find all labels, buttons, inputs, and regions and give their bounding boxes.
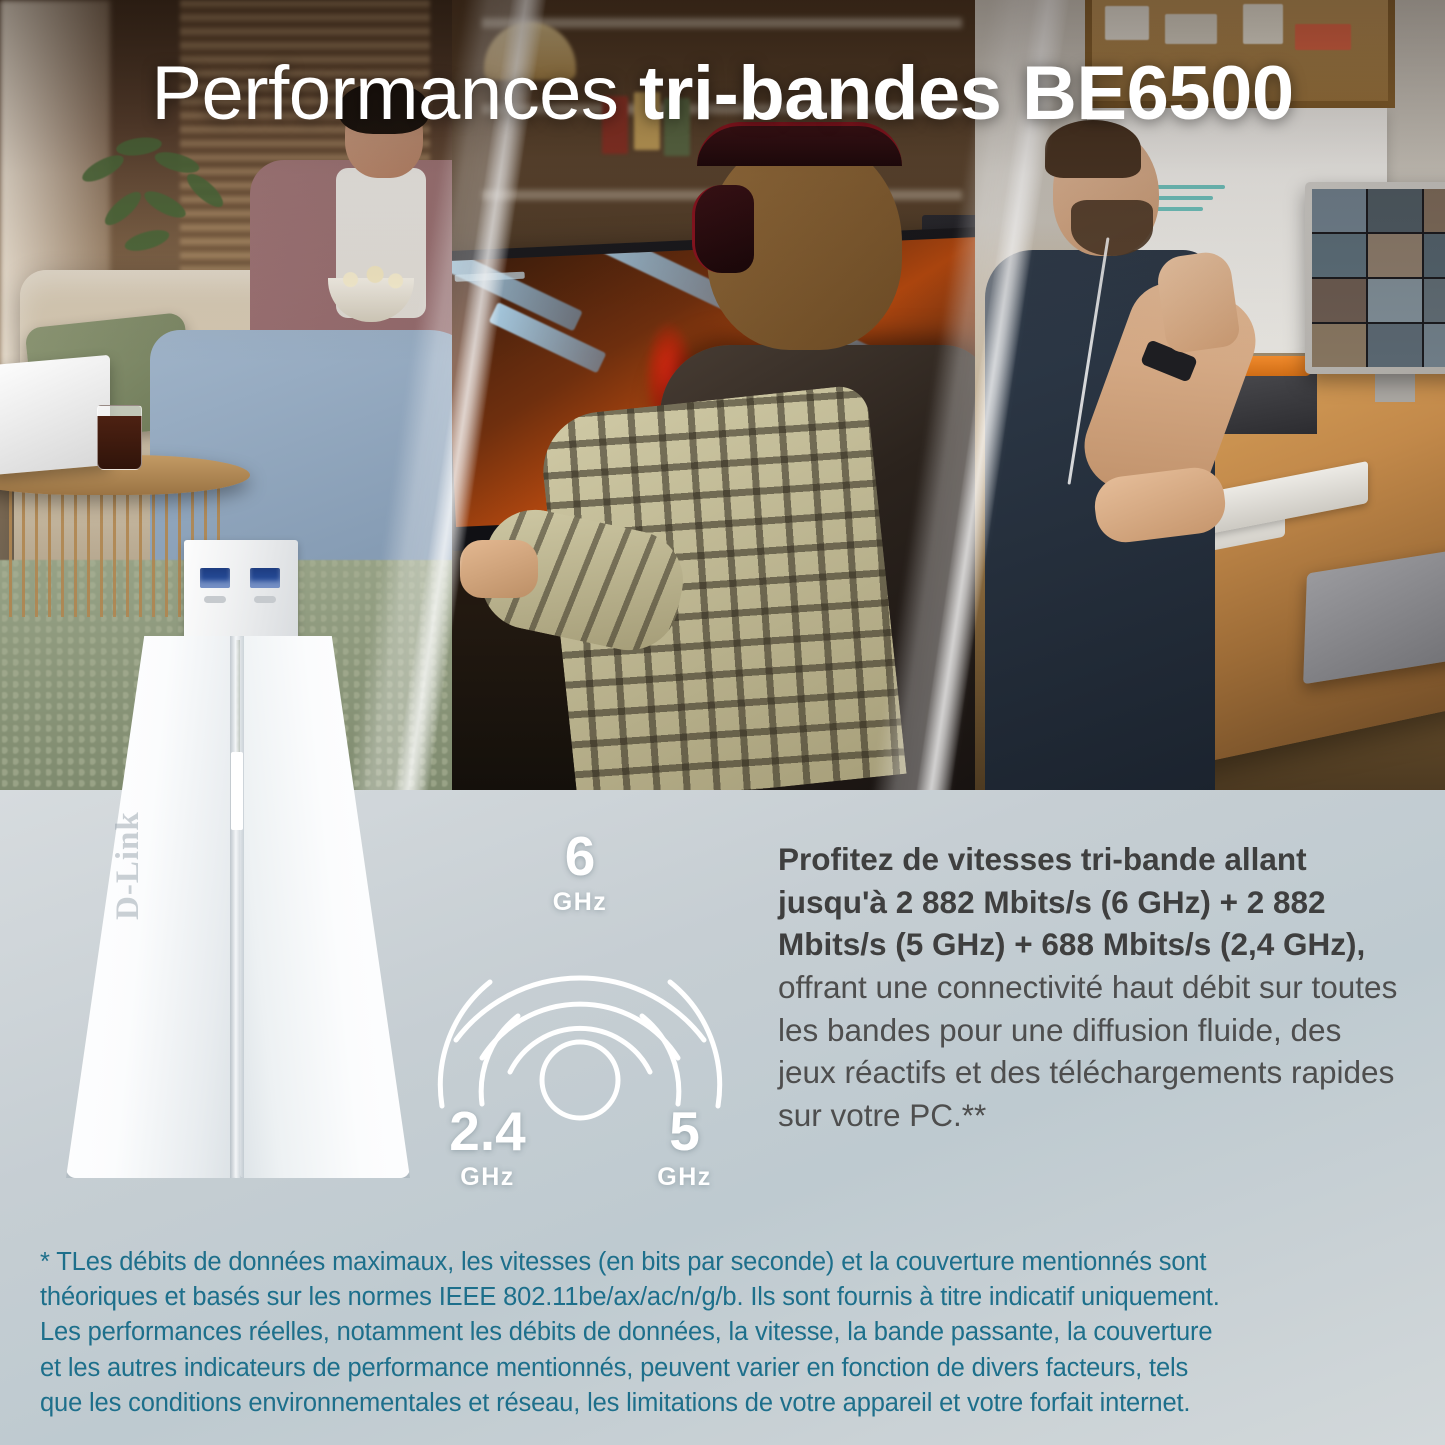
- usb-notch: [254, 596, 276, 603]
- band-label-2.4ghz: 2.4 GHz: [415, 1105, 560, 1192]
- page-title: Performances tri-bandes BE6500: [0, 56, 1445, 132]
- usb-notch: [204, 596, 226, 603]
- footnote-line: Les performances réelles, notamment les …: [40, 1315, 1410, 1350]
- band-number: 2.4: [415, 1105, 560, 1159]
- laptop: [0, 355, 110, 475]
- worker-beard: [1071, 200, 1153, 256]
- product-image-usb-adapter: D-Link: [60, 540, 420, 1180]
- title-light-part: Performances: [151, 51, 639, 136]
- usb-contact-slot: [200, 568, 230, 588]
- footnote-line: et les autres indicateurs de performance…: [40, 1351, 1410, 1386]
- usb-connector: [184, 540, 298, 640]
- wifi-arc-inner: [510, 1028, 650, 1072]
- marketing-banner: 92: [0, 0, 1445, 1445]
- band-unit: GHz: [632, 1163, 737, 1192]
- band-number: 5: [632, 1105, 737, 1159]
- coffee-glass: [97, 405, 142, 470]
- title-bold-part: tri-bandes BE6500: [639, 51, 1294, 136]
- wifi-arc-side-left-inner: [481, 1016, 518, 1104]
- usb-contact-slot: [250, 568, 280, 588]
- footnote-line: théoriques et basés sur les normes IEEE …: [40, 1280, 1410, 1315]
- wifi-arc-middle: [482, 1004, 678, 1058]
- band-unit: GHz: [415, 1163, 560, 1192]
- band-label-5ghz: 5 GHz: [632, 1105, 737, 1192]
- video-call-grid: [1312, 189, 1445, 367]
- popcorn: [330, 264, 412, 290]
- footnote-line: que les conditions environnementales et …: [40, 1386, 1410, 1421]
- desktop-monitor: [1305, 182, 1445, 374]
- gamer-hand: [460, 540, 538, 598]
- headphones-earcup: [692, 185, 754, 273]
- worker-waving-hand: [1155, 249, 1242, 354]
- antenna-wing-right: [240, 636, 410, 1178]
- marketing-description: Profitez de vitesses tri-bande allant ju…: [778, 838, 1403, 1137]
- legal-footnote: * TLes débits de données maximaux, les v…: [40, 1245, 1410, 1421]
- band-label-6ghz: 6 GHz: [530, 830, 630, 917]
- wifi-arc-side-right-inner: [642, 1016, 679, 1104]
- product-seam-highlight: [231, 752, 243, 830]
- footnote-line: * TLes débits de données maximaux, les v…: [40, 1245, 1410, 1280]
- antenna-wing-left: [66, 636, 236, 1178]
- band-number: 6: [530, 830, 630, 884]
- product-center-seam: [230, 636, 244, 1178]
- band-unit: GHz: [530, 888, 630, 917]
- dlink-brand-logo: D-Link: [110, 811, 147, 920]
- copy-bold-spec: Profitez de vitesses tri-bande allant ju…: [778, 841, 1365, 962]
- monitor-stand: [1375, 372, 1415, 402]
- copy-regular-text: offrant une connectivité haut débit sur …: [778, 969, 1397, 1133]
- wifi-signal-graphic: 6 GHz 2.4 GHz 5 GHz: [420, 830, 740, 1210]
